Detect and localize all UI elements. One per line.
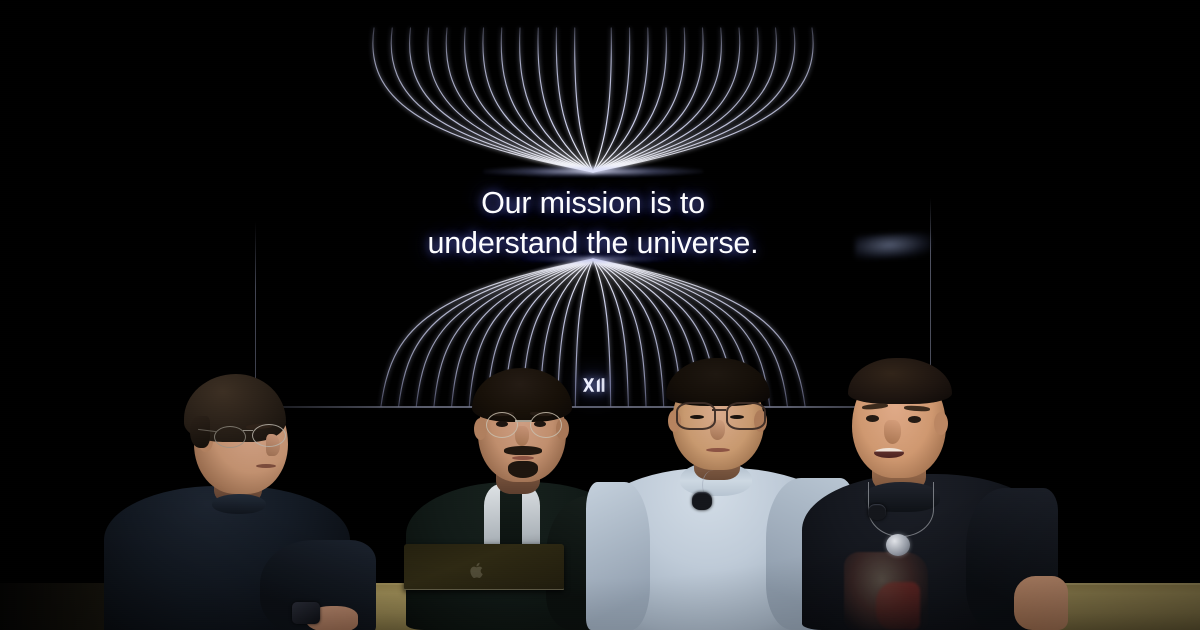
mission-line-2: understand the universe.: [0, 223, 1193, 263]
panelist-3-hair: [666, 358, 770, 406]
panelist-2-mouth: [512, 456, 534, 460]
arc-vertex-flare-top: [483, 166, 703, 177]
panelist-1-collar: [212, 494, 266, 514]
panelist-1-sideburn: [190, 416, 210, 448]
panelist-4-lapel-mic: [868, 504, 886, 520]
mission-statement: Our mission is to understand the univers…: [0, 183, 1193, 263]
mission-line-1: Our mission is to: [0, 183, 1193, 223]
panelist-3-glasses-lens-left: [676, 402, 716, 430]
panelist-1-glasses-lens-right: [252, 424, 286, 447]
panelist-2-mustache: [504, 446, 542, 455]
panelist-4-eye-right: [908, 416, 921, 423]
panelist-3-glasses-lens-right: [726, 402, 766, 430]
panelist-4: [806, 356, 1068, 630]
video-frame: Our mission is to understand the univers…: [0, 0, 1200, 630]
panelist-2-glasses-lens-left: [486, 412, 518, 438]
panelist-4-hair: [848, 358, 952, 404]
panelist-1: [110, 368, 370, 630]
panelist-1-glasses-lens-left: [214, 426, 246, 448]
panelist-1-glasses-bridge: [243, 430, 253, 431]
panelist-2-glasses-bridge: [515, 420, 531, 422]
panelist-1-glasses: [210, 424, 292, 448]
panelist-3-glasses: [672, 402, 766, 428]
panelist-1-mouth: [256, 464, 276, 468]
panelist-4-ear: [934, 412, 948, 435]
panelist-3-glasses-bridge: [712, 409, 726, 411]
panelist-4-eye-left: [866, 415, 879, 422]
panelist-2-glasses: [480, 410, 568, 436]
panelist-3-lapel-mic: [692, 492, 712, 510]
panelist-4-shirt-graphic-accent: [876, 582, 920, 630]
panelist-4-nose: [884, 420, 901, 444]
apple-logo-icon: [470, 562, 485, 579]
panelist-3-sleeve-left: [586, 482, 650, 630]
panelist-2-goatee: [508, 461, 538, 478]
panelist-4-mouth: [874, 448, 904, 458]
panelist-4-necklace-pendant: [886, 534, 910, 556]
panelist-2-glasses-lens-right: [530, 412, 562, 438]
panelist-4-arm-skin: [1014, 576, 1068, 630]
panelist-1-watch: [292, 602, 320, 624]
panelist-3-mouth: [706, 448, 730, 452]
